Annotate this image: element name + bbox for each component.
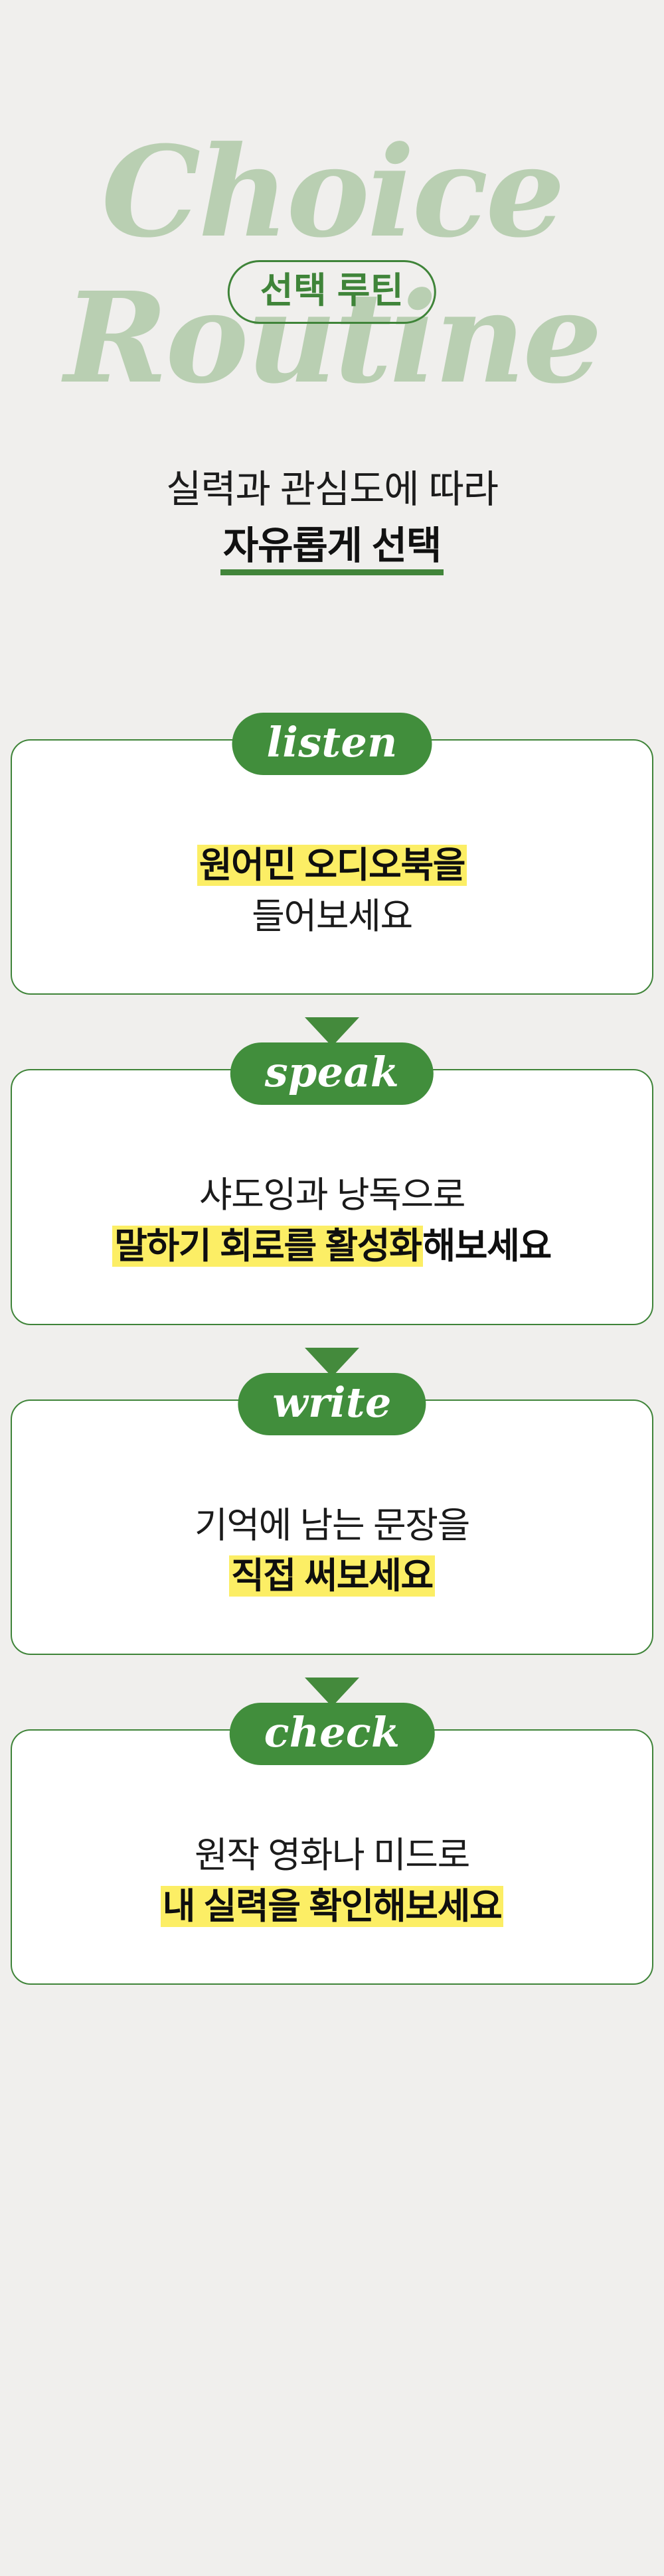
step-pill-write: write [238, 1373, 426, 1435]
step-text-line-2: 직접 써보세요 [39, 1551, 625, 1602]
step-text-highlight: 원어민 오디오북을 [198, 845, 466, 885]
step-body: 원작 영화나 미드로내 실력을 확인해보세요 [12, 1731, 652, 1983]
step-pill-label: check [264, 1712, 400, 1753]
step-text-line-2: 내 실력을 확인해보세요 [39, 1881, 625, 1932]
step-text-line-1: 기억에 남는 문장을 [39, 1500, 625, 1551]
routine-step-write: write기억에 남는 문장을직접 써보세요 [11, 1399, 653, 1655]
section-badge: 선택 루틴 [228, 260, 436, 324]
step-text-highlight: 직접 써보세요 [230, 1556, 434, 1596]
step-card[interactable]: check원작 영화나 미드로내 실력을 확인해보세요 [11, 1729, 653, 1985]
step-pill-speak: speak [230, 1042, 434, 1105]
headline-block: 실력과 관심도에 따라 자유롭게 선택 [0, 465, 664, 571]
section-badge-label: 선택 루틴 [260, 271, 404, 311]
headline-line-1: 실력과 관심도에 따라 [0, 465, 664, 516]
headline-underline [220, 569, 444, 575]
wordmark-choice: Choice [0, 130, 664, 255]
step-card[interactable]: listen원어민 오디오북을들어보세요 [11, 739, 653, 995]
step-text-plain: 들어보세요 [252, 896, 412, 936]
step-body: 샤도잉과 낭독으로말하기 회로를 활성화해보세요 [12, 1070, 652, 1323]
routine-step-check: check원작 영화나 미드로내 실력을 확인해보세요 [11, 1729, 653, 1985]
step-text-plain: 기억에 남는 문장을 [195, 1506, 469, 1545]
step-pill-listen: listen [232, 713, 432, 775]
routine-step-speak: speak샤도잉과 낭독으로말하기 회로를 활성화해보세요 [11, 1069, 653, 1324]
step-card[interactable]: write기억에 남는 문장을직접 써보세요 [11, 1399, 653, 1655]
routine-step-listen: listen원어민 오디오북을들어보세요 [11, 670, 653, 995]
step-pill-check: check [230, 1703, 435, 1765]
step-text-highlight: 내 실력을 확인해보세요 [161, 1887, 503, 1926]
step-body: 원어민 오디오북을들어보세요 [12, 741, 652, 993]
step-text-plain: 샤도잉과 낭독으로 [199, 1175, 465, 1215]
step-body: 기억에 남는 문장을직접 써보세요 [12, 1401, 652, 1654]
hero-section: Choice Routine 선택 루틴 실력과 관심도에 따라 자유롭게 선택 [0, 0, 664, 670]
headline-line-2: 자유롭게 선택 [223, 524, 441, 567]
step-text-line-2: 말하기 회로를 활성화해보세요 [39, 1221, 625, 1272]
step-text-line-1: 원어민 오디오북을 [39, 840, 625, 891]
step-text-line-1: 샤도잉과 낭독으로 [39, 1170, 625, 1221]
routine-steps: listen원어민 오디오북을들어보세요speak샤도잉과 낭독으로말하기 회로… [0, 670, 664, 1985]
step-text-plain-suffix: 해보세요 [422, 1226, 550, 1266]
headline-line-2-wrap: 자유롭게 선택 [223, 521, 441, 572]
step-pill-label: write [272, 1382, 391, 1423]
step-text-plain: 원작 영화나 미드로 [195, 1835, 469, 1875]
step-text-line-2: 들어보세요 [39, 891, 625, 942]
step-card[interactable]: speak샤도잉과 낭독으로말하기 회로를 활성화해보세요 [11, 1069, 653, 1324]
step-text-line-1: 원작 영화나 미드로 [39, 1830, 625, 1881]
step-text-highlight: 말하기 회로를 활성화 [113, 1226, 422, 1266]
step-pill-label: listen [266, 722, 397, 763]
step-pill-label: speak [265, 1052, 399, 1093]
